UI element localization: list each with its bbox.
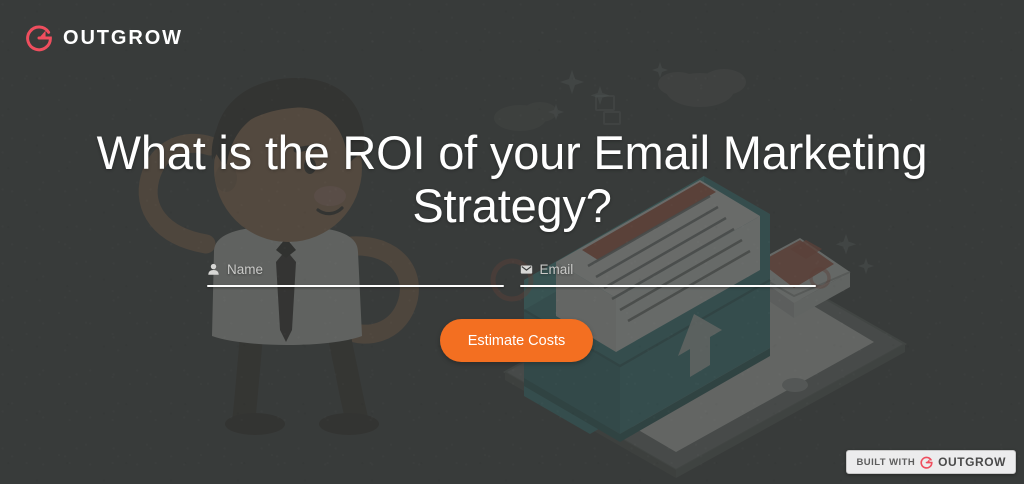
estimate-costs-button[interactable]: Estimate Costs — [440, 319, 593, 362]
person-icon — [207, 263, 220, 276]
name-field-label: Name — [207, 258, 504, 280]
badge-brand-name: OUTGROW — [938, 455, 1006, 469]
page-title: What is the ROI of your Email Marketing … — [0, 127, 1024, 232]
lead-form: Name Email — [207, 258, 816, 287]
name-field-placeholder: Name — [227, 262, 263, 277]
hero-illustration — [0, 0, 1024, 484]
brand-name: OUTGROW — [63, 28, 183, 48]
built-with-badge[interactable]: BUILT WITH OUTGROW — [846, 450, 1016, 474]
outgrow-logo-icon — [25, 24, 53, 52]
name-field-underline — [207, 285, 504, 287]
envelope-icon — [520, 263, 533, 276]
email-field-placeholder: Email — [540, 262, 574, 277]
email-field[interactable]: Email — [520, 258, 817, 287]
built-with-label: BUILT WITH — [856, 457, 915, 468]
brand-logo[interactable]: OUTGROW — [25, 24, 183, 52]
email-field-label: Email — [520, 258, 817, 280]
name-field[interactable]: Name — [207, 258, 504, 287]
outgrow-logo-icon — [920, 456, 933, 469]
landing-page: OUTGROW What is the ROI of your Email Ma… — [0, 0, 1024, 484]
email-field-underline — [520, 285, 817, 287]
